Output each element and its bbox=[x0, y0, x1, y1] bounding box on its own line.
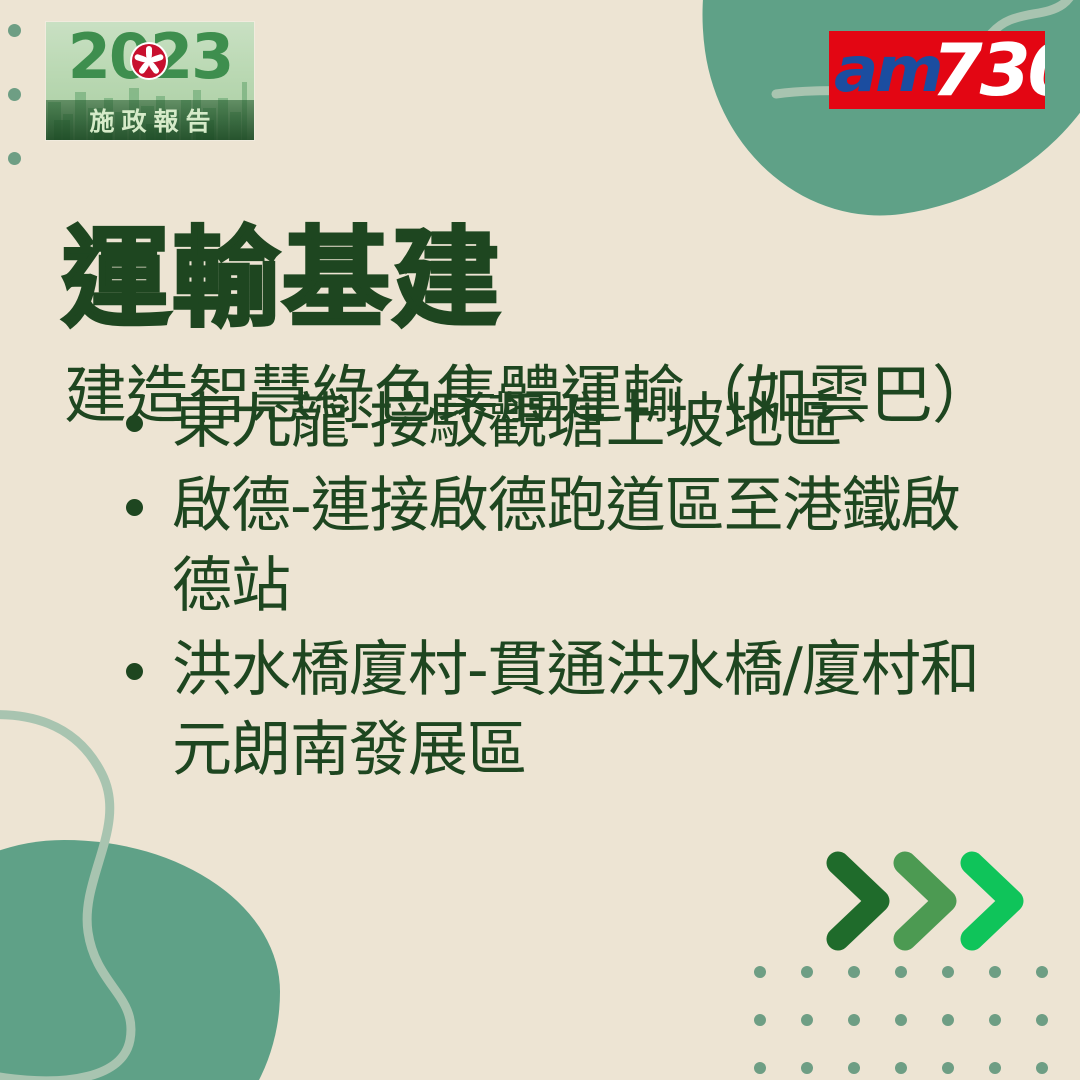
am730-logo: am 730 bbox=[829, 31, 1045, 109]
dot bbox=[1036, 966, 1048, 978]
list-item-text: 東九龍-接駁觀塘上坡地區 bbox=[172, 387, 842, 457]
dot bbox=[848, 1062, 860, 1074]
dot bbox=[848, 1014, 860, 1026]
bottom-right-dot-grid bbox=[754, 966, 1080, 1080]
swipe-forward-chevrons bbox=[826, 851, 1036, 951]
dot bbox=[989, 1014, 1001, 1026]
dot bbox=[895, 966, 907, 978]
badge-caption-band: 施政報告 bbox=[46, 100, 254, 140]
dot bbox=[989, 1062, 1001, 1074]
chevron-right-icon bbox=[972, 863, 1012, 939]
bullet-marker-icon bbox=[126, 663, 143, 680]
dot bbox=[1036, 1062, 1048, 1074]
dot bbox=[754, 1062, 766, 1074]
dot bbox=[1036, 1014, 1048, 1026]
hong-kong-bauhinia-emblem-icon bbox=[132, 44, 166, 78]
list-item: 啟德-連接啟德跑道區至港鐵啟德站 bbox=[124, 466, 1004, 626]
bullet-list: 東九龍-接駁觀塘上坡地區 啟德-連接啟德跑道區至港鐵啟德站 洪水橋廈村-貫通洪水… bbox=[124, 382, 1004, 794]
chevron-right-icon bbox=[838, 863, 878, 939]
bullet-marker-icon bbox=[126, 415, 143, 432]
policy-address-2023-badge: 2023 施政報告 bbox=[46, 22, 254, 140]
badge-caption-text: 施政報告 bbox=[82, 102, 217, 138]
dot bbox=[8, 152, 21, 165]
am730-logo-number: 730 bbox=[932, 34, 1045, 106]
dot bbox=[8, 88, 21, 101]
list-item-text: 洪水橋廈村-貫通洪水橋/廈村和元朗南發展區 bbox=[172, 635, 979, 785]
dot bbox=[942, 1062, 954, 1074]
dot bbox=[989, 966, 1001, 978]
page-title: 運輸基建 bbox=[62, 224, 502, 336]
list-item: 洪水橋廈村-貫通洪水橋/廈村和元朗南發展區 bbox=[124, 630, 1004, 790]
policy-address-social-card: 2023 施政報告 am 730 運輸基建 建造智慧綠色集體運輸（如雲巴） 東九… bbox=[0, 0, 1080, 1080]
am730-logo-prefix: am bbox=[834, 39, 940, 101]
dot bbox=[942, 966, 954, 978]
dot bbox=[801, 966, 813, 978]
dot bbox=[942, 1014, 954, 1026]
dot bbox=[8, 24, 21, 37]
dot bbox=[848, 966, 860, 978]
dot bbox=[754, 966, 766, 978]
dot bbox=[895, 1014, 907, 1026]
dot bbox=[801, 1062, 813, 1074]
chevron-right-icon bbox=[905, 863, 945, 939]
bullet-marker-icon bbox=[126, 499, 143, 516]
dot bbox=[801, 1014, 813, 1026]
dot bbox=[754, 1014, 766, 1026]
list-item-text: 啟德-連接啟德跑道區至港鐵啟德站 bbox=[172, 471, 960, 621]
dot bbox=[895, 1062, 907, 1074]
list-item: 東九龍-接駁觀塘上坡地區 bbox=[124, 382, 1004, 462]
